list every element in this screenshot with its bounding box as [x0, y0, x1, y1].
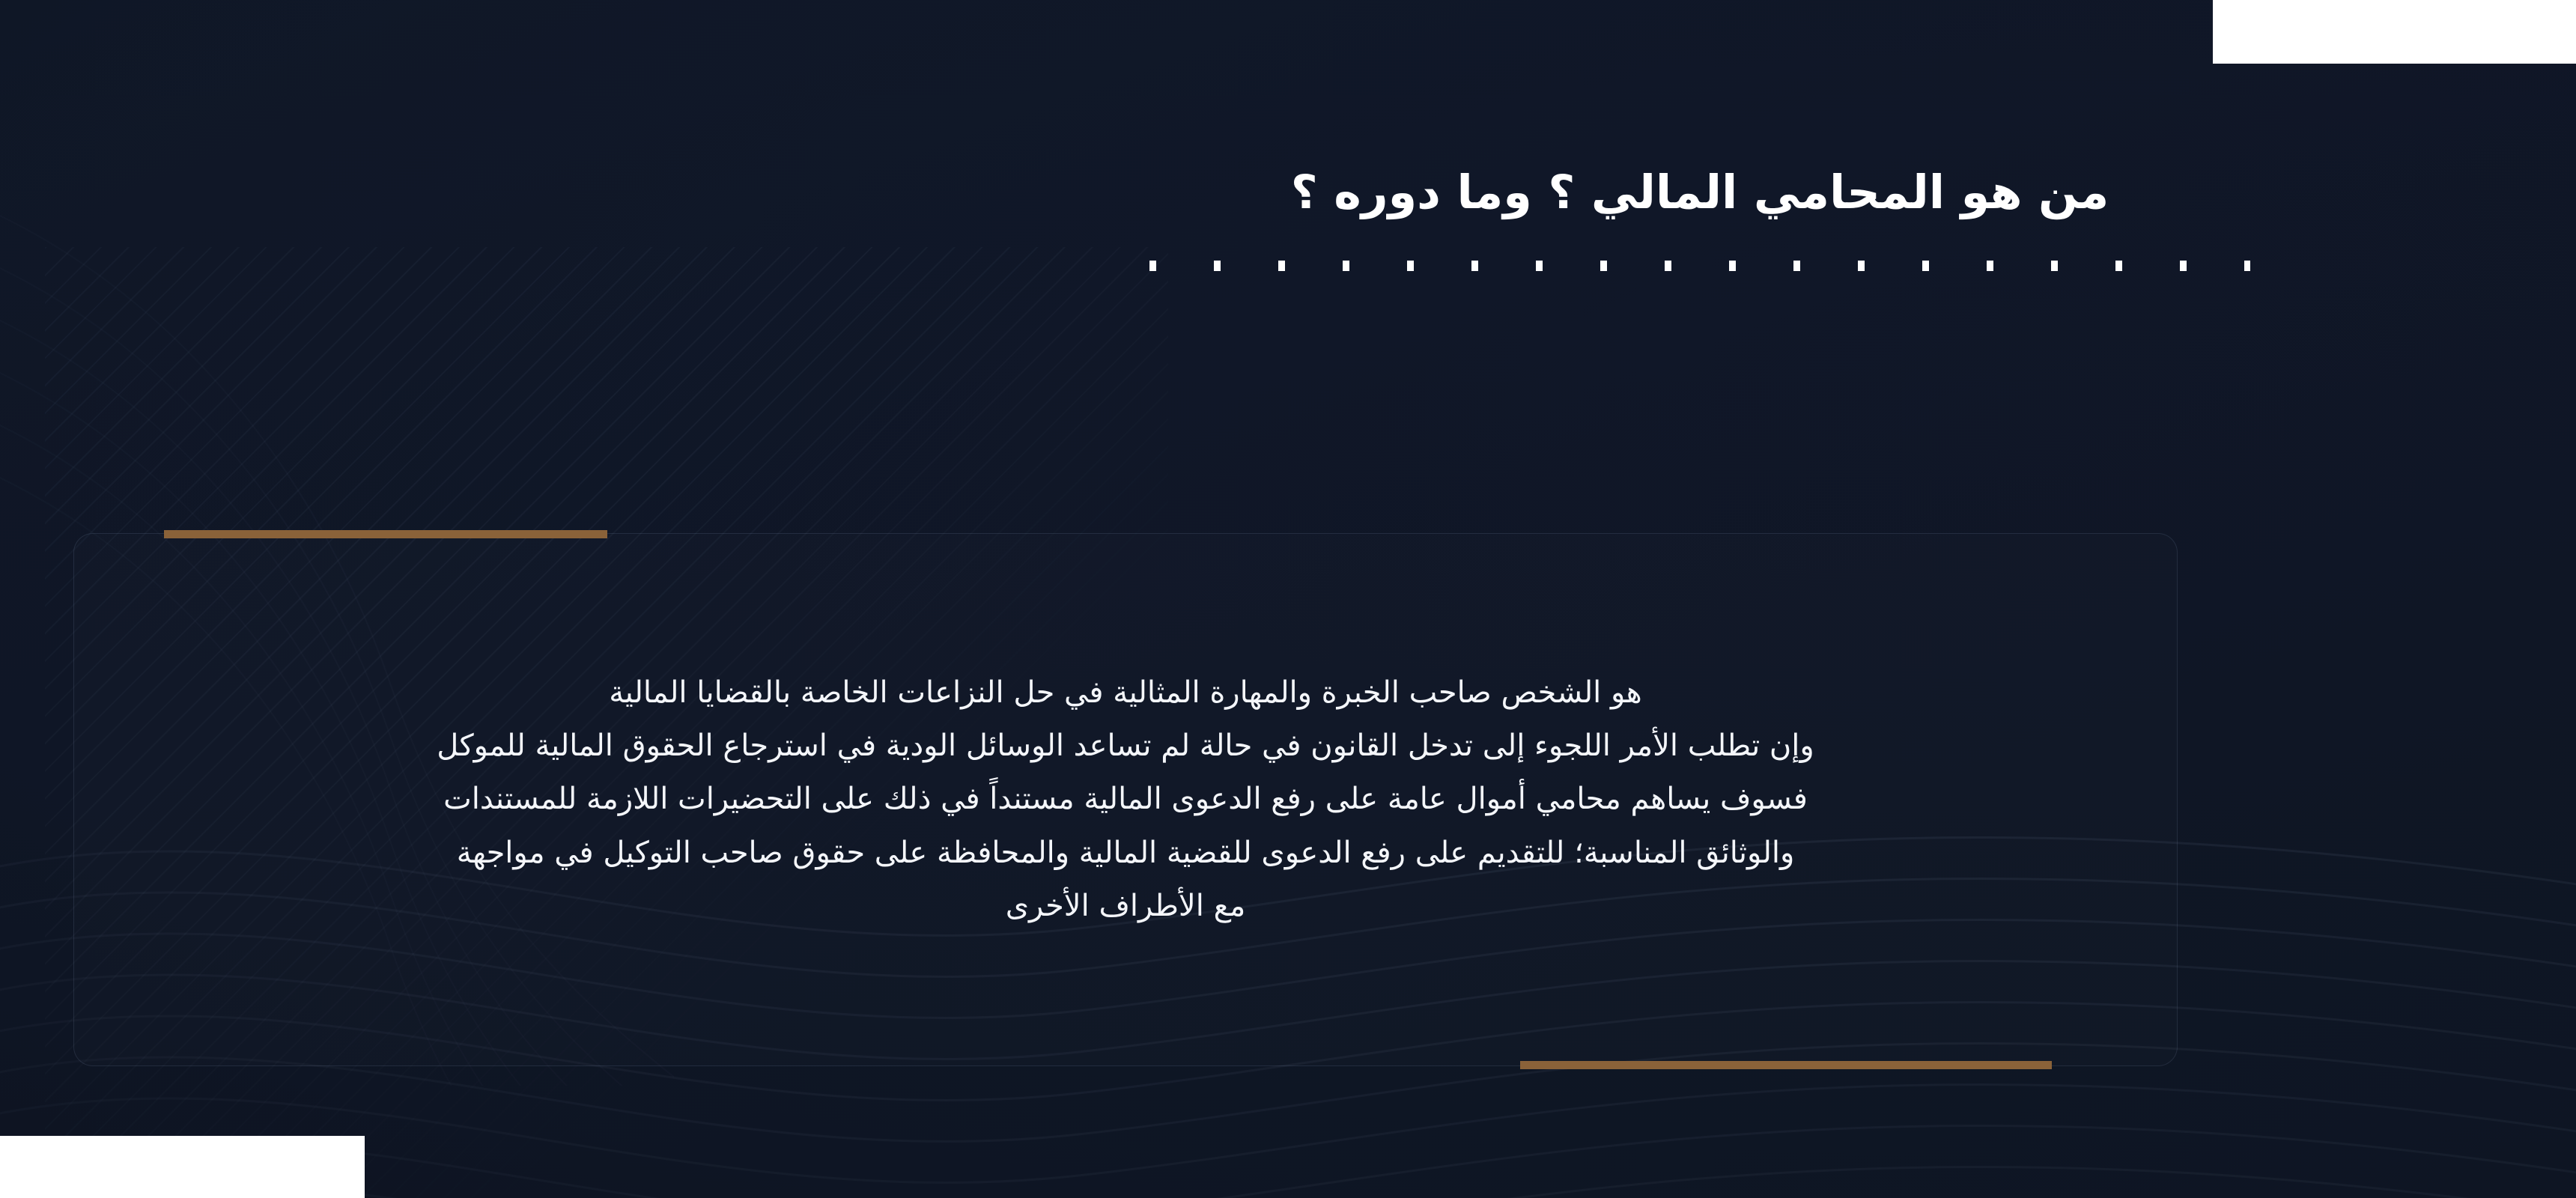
- presentation-slide: من هو المحامي المالي ؟ وما دوره ؟ هو الش…: [0, 0, 2576, 1198]
- top-right-white-block: [2213, 0, 2576, 64]
- bottom-left-white-block: [0, 1136, 365, 1198]
- page-title: من هو المحامي المالي ؟ وما دوره ؟: [951, 163, 2449, 222]
- slide-header: من هو المحامي المالي ؟ وما دوره ؟: [951, 163, 2449, 271]
- body-content-card: هو الشخص صاحب الخبرة والمهارة المثالية ف…: [73, 533, 2178, 1066]
- body-paragraph: هو الشخص صاحب الخبرة والمهارة المثالية ف…: [74, 534, 2177, 1065]
- body-line: فسوف يساهم محامي أموال عامة على رفع الدع…: [443, 773, 1808, 826]
- body-line: هو الشخص صاحب الخبرة والمهارة المثالية ف…: [609, 666, 1642, 720]
- title-dashed-divider: [1149, 261, 2250, 271]
- body-line: مع الأطراف الأخرى: [1006, 880, 1246, 933]
- body-line: والوثائق المناسبة؛ للتقديم على رفع الدعو…: [457, 827, 1795, 880]
- body-line: وإن تطلب الأمر اللجوء إلى تدخل القانون ف…: [437, 720, 1814, 773]
